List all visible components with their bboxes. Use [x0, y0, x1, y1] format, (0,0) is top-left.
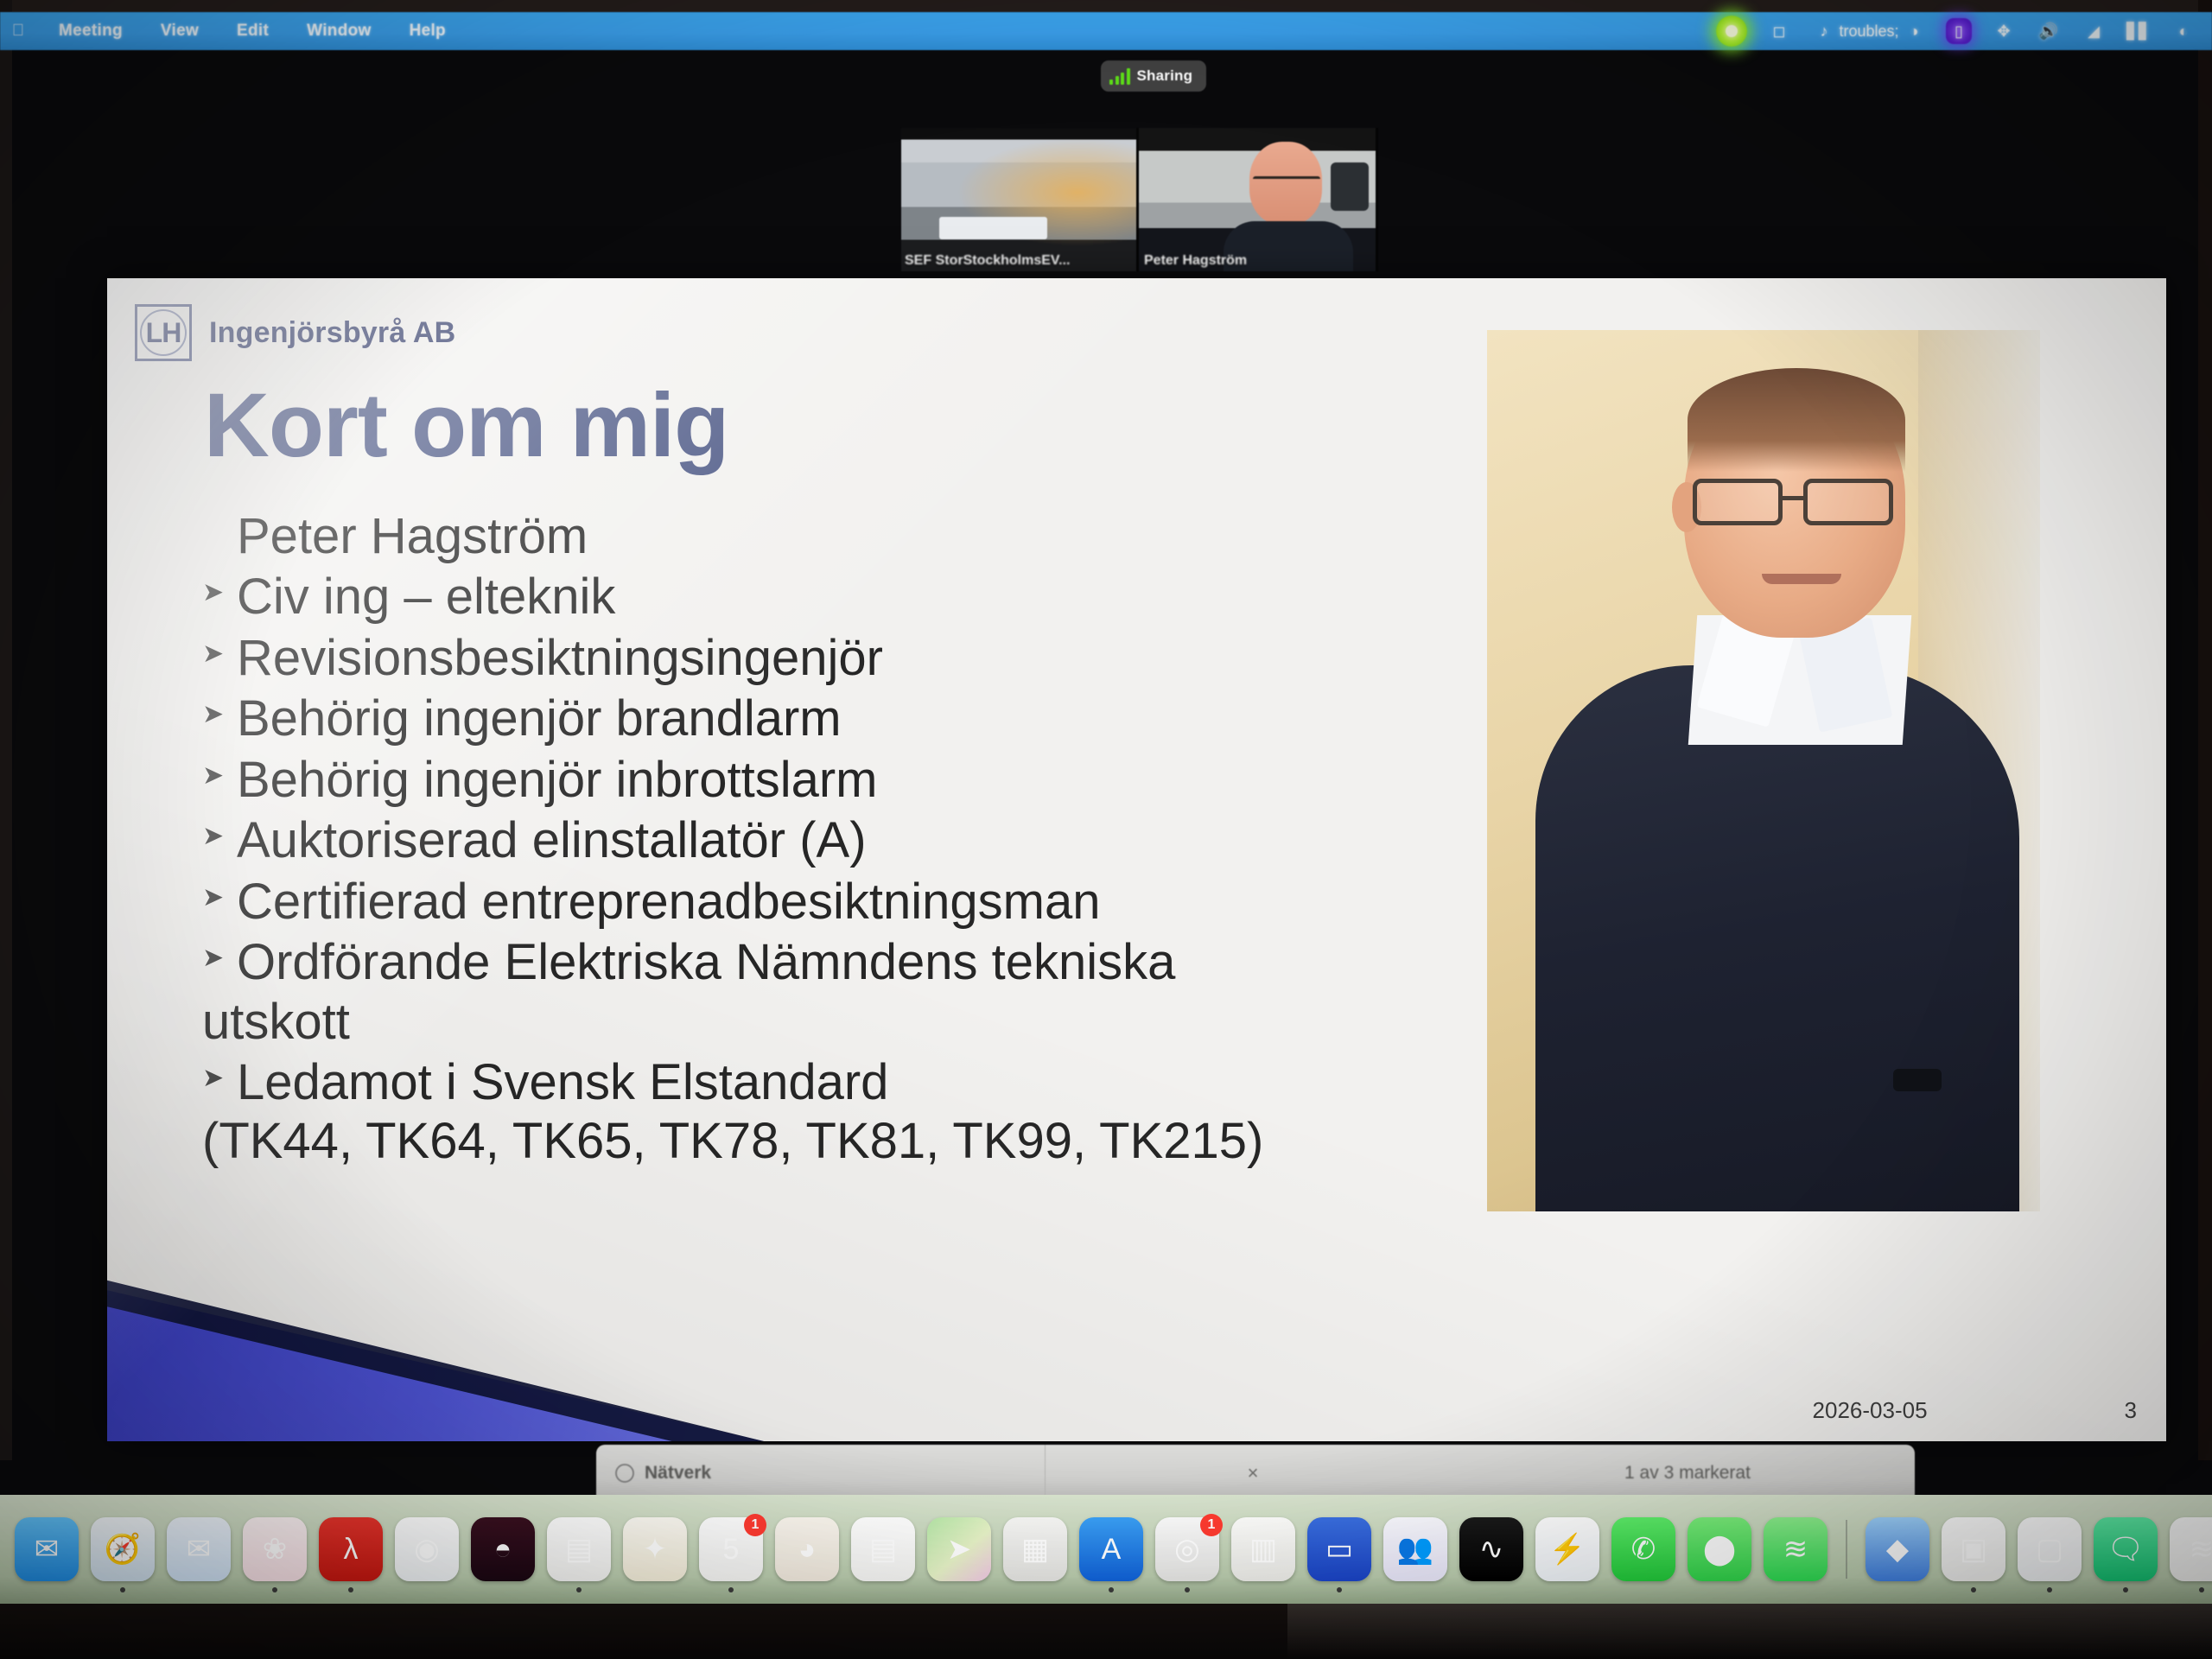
calendar-icon[interactable]: 51: [699, 1517, 763, 1581]
mouth-shape: [1762, 574, 1841, 584]
bullet-item: ➤Certifierad entreprenadbesiktningsman: [202, 873, 1516, 931]
monitor-bezel-top: [0, 0, 2212, 12]
mail-icon[interactable]: ✉: [15, 1517, 79, 1581]
photos-icon[interactable]: ❀: [243, 1517, 307, 1581]
safari-icon[interactable]: 🧭: [91, 1517, 155, 1581]
bullet-text: Ordförande Elektriska Nämndens tekniska: [237, 934, 1175, 990]
menu-item-edit[interactable]: Edit: [237, 22, 269, 41]
bullet-item: ➤Behörig ingenjör inbrottslarm: [202, 751, 1516, 810]
lens-left-shape: [1693, 479, 1783, 525]
apple-menu-icon[interactable]: : [9, 22, 28, 41]
dock-icon-glyph: ◉: [414, 1532, 440, 1567]
participant-name-label: Peter Hagström: [1144, 253, 1247, 269]
finder-status-bar: 1 av 3 markerat: [1460, 1445, 1915, 1502]
bullet-text: Behörig ingenjör inbrottslarm: [237, 752, 877, 808]
background-camera-shape: [1331, 162, 1369, 211]
glasses-icon: [1682, 479, 1914, 525]
dock-icon-glyph: ◆: [1886, 1532, 1909, 1567]
menu-item-meeting[interactable]: Meeting: [59, 22, 123, 41]
dock-icon-glyph: ✉: [35, 1532, 60, 1567]
bullet-text: Certifierad entreprenadbesiktningsman: [237, 874, 1100, 930]
monitor-bezel-left: [0, 0, 12, 1460]
dock-icon-glyph: 👥: [1397, 1532, 1433, 1567]
whatsapp-icon[interactable]: ✆: [1611, 1517, 1675, 1581]
dock-icon-glyph: ➤: [947, 1532, 972, 1567]
finder-sidebar-label: Nätverk: [645, 1463, 711, 1484]
bullet-marker-icon: ➤: [202, 763, 224, 789]
bullet-marker-icon: ➤: [202, 641, 224, 667]
slide-footer: 2026-03-05 3: [107, 1397, 2166, 1424]
participant-name-label: SEF StorStockholmsEV...: [905, 253, 1070, 269]
messenger-icon[interactable]: ⚡: [1535, 1517, 1599, 1581]
monitor-bottom-edge: [0, 1604, 2212, 1659]
bullet-marker-icon: ➤: [202, 1065, 224, 1091]
lead-name: Peter Hagström: [202, 507, 1516, 566]
notes-icon[interactable]: ▤: [547, 1517, 611, 1581]
battery-icon[interactable]: ▋▋: [2126, 18, 2152, 44]
spotify-icon[interactable]: ≋: [1764, 1517, 1827, 1581]
running-indicator-dot: [1971, 1587, 1976, 1592]
dock-icon-glyph: ▣: [1960, 1532, 1987, 1567]
dock-icon-glyph: ≋: [2190, 1532, 2212, 1567]
dock-left-group: ✉🧭✉❀λ◉◓▤✦51◕▤➤▦A◎1▥▭👥∿⚡✆⬤≋: [9, 1517, 1834, 1581]
dock-icon-glyph: ▭: [1325, 1532, 1353, 1567]
bankid-icon[interactable]: ⬤: [1688, 1517, 1751, 1581]
opera-icon[interactable]: ◎1: [1155, 1517, 1219, 1581]
dock-icon-glyph: ▢: [2036, 1532, 2063, 1567]
zoom-share-icon[interactable]: ◻: [1766, 18, 1792, 44]
dock-icon-glyph: ≋: [1783, 1532, 1808, 1567]
photographed-monitor:  Meeting View Edit Window Help ◻ ♪ trou…: [0, 0, 2212, 1659]
video-tile-peter[interactable]: Peter Hagström: [1139, 128, 1376, 271]
finder-sidebar[interactable]: Nätverk: [596, 1445, 1046, 1502]
dock-icon-glyph: ✆: [1631, 1532, 1656, 1567]
portrait-photo: [1487, 330, 2040, 1211]
notification-badge: 1: [1200, 1514, 1223, 1536]
calculator-icon[interactable]: ▦: [1003, 1517, 1067, 1581]
notification-badge: 1: [744, 1514, 766, 1536]
bullet-item: ➤Auktoriserad elinstallatör (A): [202, 811, 1516, 870]
logo-initials: LH: [137, 307, 189, 359]
lens-right-shape: [1803, 479, 1893, 525]
contacts-icon[interactable]: ◕: [775, 1517, 839, 1581]
bullet-item: ➤Ledamot i Svensk Elstandard(TK44, TK64,…: [202, 1053, 1516, 1172]
dock-icon-glyph: ✦: [643, 1532, 668, 1567]
bullet-list: ➤Civ ing – elteknik➤Revisionsbesiktnings…: [202, 568, 1516, 1171]
dock-icon-glyph: 🗨: [2107, 1532, 2144, 1567]
sharing-label: Sharing: [1137, 67, 1193, 85]
bullet-item: ➤Behörig ingenjör brandlarm: [202, 690, 1516, 748]
slide-page-number: 3: [2125, 1397, 2137, 1424]
dock-icon-glyph: ◎: [1174, 1532, 1200, 1567]
bullet-text: Ledamot i Svensk Elstandard: [237, 1054, 888, 1110]
teams-icon[interactable]: 👥: [1383, 1517, 1447, 1581]
control-center-icon[interactable]: ◐: [2171, 18, 2196, 44]
running-indicator-dot: [272, 1587, 277, 1592]
slide-date: 2026-03-05: [1813, 1397, 1928, 1424]
bluetooth-icon[interactable]: ✥: [1991, 18, 2017, 44]
dock-right-group: ◆▣▢🗨≋: [1859, 1517, 2212, 1581]
reminders-icon[interactable]: ▤: [851, 1517, 915, 1581]
dock-icon-glyph: 5: [723, 1533, 740, 1567]
screen-sharing-icon[interactable]: ▣: [1942, 1517, 2005, 1581]
glasses-bridge-shape: [1783, 496, 1803, 500]
running-indicator-dot: [2199, 1587, 2204, 1592]
bullet-text: Auktoriserad elinstallatör (A): [237, 812, 867, 868]
running-indicator-dot: [1185, 1587, 1190, 1592]
running-indicator-dot: [1109, 1587, 1114, 1592]
running-indicator-dot: [2047, 1587, 2052, 1592]
bullet-item: ➤Revisionsbesiktningsingenjör: [202, 629, 1516, 688]
running-indicator-dot: [1337, 1587, 1342, 1592]
bullet-marker-icon: ➤: [202, 945, 224, 971]
volume-icon[interactable]: 🔊: [2036, 18, 2062, 44]
finder-close-region[interactable]: ×: [1046, 1445, 1460, 1502]
running-indicator-dot: [728, 1587, 734, 1592]
dropbox-icon[interactable]: ◆: [1866, 1517, 1929, 1581]
zoom-video-thumbnail-strip[interactable]: SEF StorStockholmsEV... Peter Hagström: [901, 128, 1378, 271]
finder-icon[interactable]: ▢: [2018, 1517, 2082, 1581]
bullet-marker-icon: ➤: [202, 823, 224, 849]
bullet-continuation-text: utskott: [202, 993, 1516, 1052]
app-store-icon[interactable]: A: [1079, 1517, 1143, 1581]
slide-title: Kort om mig: [204, 380, 728, 471]
running-indicator-dot: [2123, 1587, 2128, 1592]
monitor-bezel-right: [2198, 0, 2212, 1460]
bullet-marker-icon: ➤: [202, 580, 224, 606]
screen-recording-indicator-icon[interactable]: [1716, 16, 1747, 47]
dock-icon-glyph: λ: [344, 1533, 359, 1567]
bullet-text: Behörig ingenjör brandlarm: [237, 690, 842, 747]
participant-glasses-shape: [1253, 176, 1320, 190]
dock-icon-glyph: ∿: [1479, 1532, 1504, 1567]
messages-icon[interactable]: 🗨: [2094, 1517, 2158, 1581]
speech-bubble-icon[interactable]: troubles;: [1856, 18, 1882, 44]
desk-reflection: [1287, 1604, 2212, 1659]
running-indicator-dot: [348, 1587, 353, 1592]
company-logo: LH Ingenjörsbyrå AB: [135, 304, 455, 361]
dock-separator: [1846, 1520, 1847, 1579]
close-icon[interactable]: ×: [1248, 1462, 1259, 1484]
screen-mirroring-icon[interactable]: ▯: [1946, 18, 1972, 44]
dock-icon-glyph: ✉: [187, 1532, 212, 1567]
dock-icon-glyph: ◕: [798, 1533, 817, 1567]
dock-icon-glyph: ⚡: [1549, 1532, 1586, 1567]
slide-body: Peter Hagström ➤Civ ing – elteknik➤Revis…: [202, 507, 1516, 1173]
bullet-item: ➤Civ ing – elteknik: [202, 568, 1516, 626]
bullet-item: ➤Ordförande Elektriska Nämndens tekniska…: [202, 933, 1516, 1052]
macos-menu-bar:  Meeting View Edit Window Help ◻ ♪ trou…: [0, 12, 2212, 50]
dock-icon-glyph: ▤: [565, 1532, 593, 1567]
finder-window[interactable]: Nätverk × 1 av 3 markerat: [596, 1445, 1915, 1502]
wristwatch-shape: [1893, 1069, 1942, 1091]
outlook-icon[interactable]: ✉: [167, 1517, 231, 1581]
menu-item-window[interactable]: Window: [307, 22, 371, 41]
music-note-icon[interactable]: ♪: [1811, 18, 1837, 44]
menu-item-help[interactable]: Help: [410, 22, 446, 41]
dock-icon-glyph: ▦: [1021, 1532, 1049, 1567]
chrome-icon[interactable]: ◉: [395, 1517, 459, 1581]
dock-icon-glyph: ⬤: [1703, 1532, 1736, 1567]
menu-item-view[interactable]: View: [161, 22, 199, 41]
sweater-shape: [1535, 665, 2019, 1211]
company-name: Ingenjörsbyrå AB: [209, 316, 455, 350]
signal-bars-icon: [1109, 67, 1130, 85]
hair-shape: [1688, 368, 1905, 472]
bullet-continuation-text: (TK44, TK64, TK65, TK78, TK81, TK99, TK2…: [202, 1112, 1516, 1171]
maps-icon[interactable]: ➤: [927, 1517, 991, 1581]
numbers-icon[interactable]: ▥: [1231, 1517, 1295, 1581]
screen-sharing-indicator[interactable]: Sharing: [1101, 60, 1206, 92]
finder-status-label: 1 av 3 markerat: [1624, 1463, 1751, 1484]
running-indicator-dot: [576, 1587, 582, 1592]
zoom-icon[interactable]: ▭: [1307, 1517, 1371, 1581]
dock-icon-glyph: ◓: [494, 1533, 512, 1567]
macos-dock[interactable]: ✉🧭✉❀λ◉◓▤✦51◕▤➤▦A◎1▥▭👥∿⚡✆⬤≋ ◆▣▢🗨≋: [0, 1495, 2212, 1604]
network-icon: [615, 1464, 634, 1483]
video-tile-conference-room[interactable]: SEF StorStockholmsEV...: [901, 128, 1136, 271]
activity-monitor-icon[interactable]: ∿: [1459, 1517, 1523, 1581]
bullet-text: Revisionsbesiktningsingenjör: [237, 630, 883, 686]
trash-icon[interactable]: ≋: [2170, 1517, 2212, 1581]
time-machine-icon[interactable]: ◑: [1901, 18, 1927, 44]
bullet-text: Civ ing – elteknik: [237, 569, 615, 625]
dock-icon-glyph: ▥: [1249, 1532, 1277, 1567]
bullet-marker-icon: ➤: [202, 885, 224, 911]
dock-icon-glyph: ❀: [263, 1532, 288, 1567]
presentation-slide[interactable]: LH Ingenjörsbyrå AB Kort om mig Peter Ha…: [107, 278, 2166, 1441]
acrobat-reader-icon[interactable]: λ: [319, 1517, 383, 1581]
dock-icon-glyph: 🧭: [105, 1532, 141, 1567]
bullet-marker-icon: ➤: [202, 702, 224, 728]
firefox-icon[interactable]: ◓: [471, 1517, 535, 1581]
running-indicator-dot: [120, 1587, 125, 1592]
menu-bar-status-tray: ◻ ♪ troubles; ◑ ▯ ✥ 🔊 ◢ ▋▋ ◐: [1716, 12, 2196, 50]
wifi-icon[interactable]: ◢: [2081, 18, 2107, 44]
dock-icon-glyph: A: [1102, 1533, 1122, 1567]
lh-logo-icon: LH: [135, 304, 192, 361]
keynote-icon[interactable]: ✦: [623, 1517, 687, 1581]
dock-icon-glyph: ▤: [869, 1532, 897, 1567]
